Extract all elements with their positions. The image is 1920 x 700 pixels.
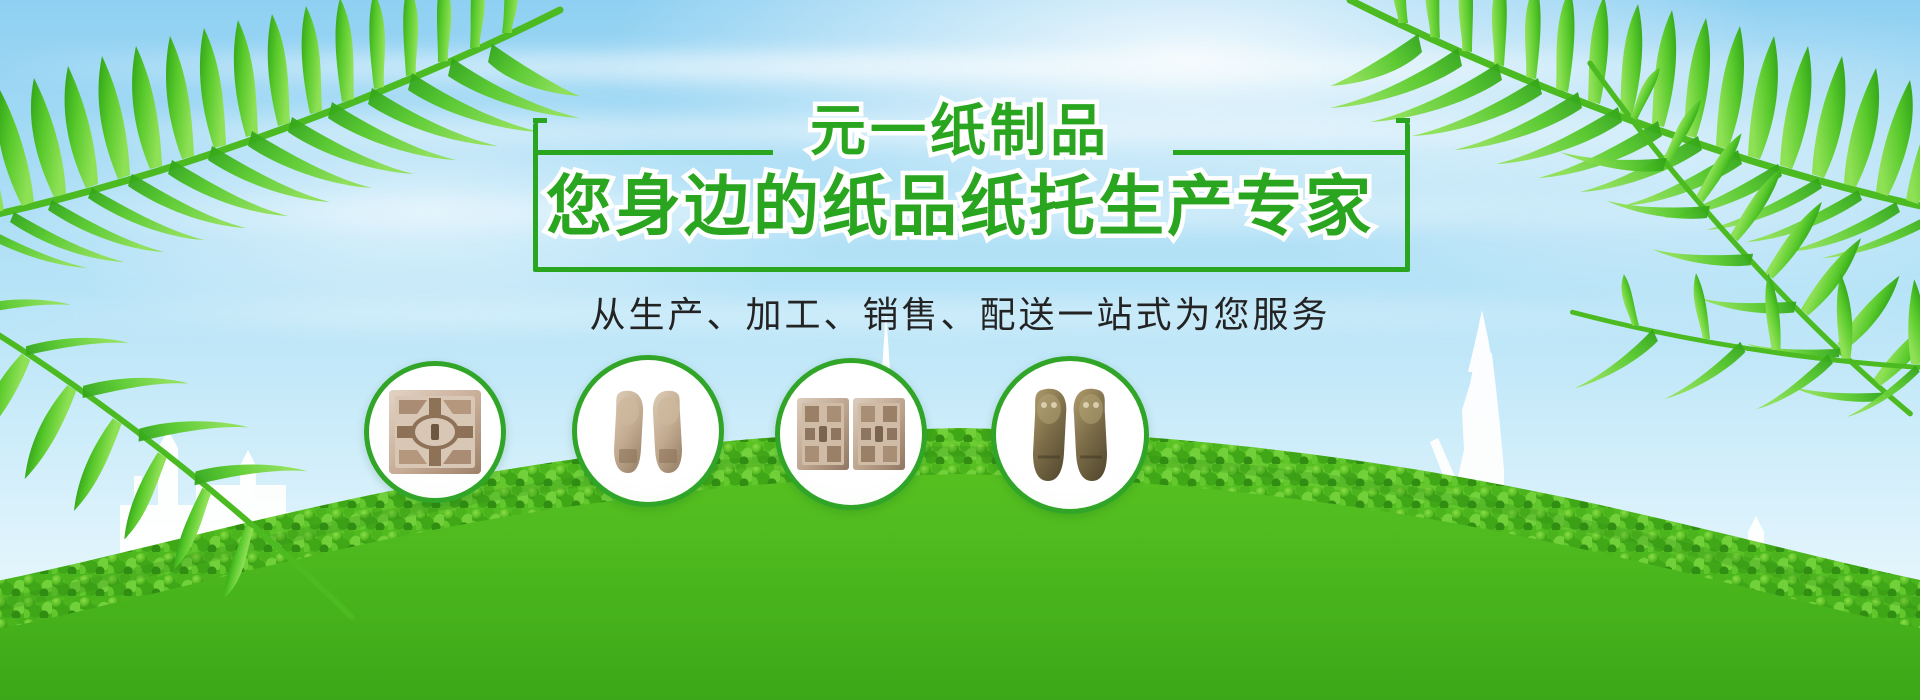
product-circle-molded-pulp-shoe-shapers-dark[interactable] — [991, 356, 1149, 514]
molded-pulp-shoe-shapers-icon — [1014, 379, 1126, 491]
product-circle-molded-pulp-double-tray[interactable] — [775, 358, 927, 510]
molded-pulp-double-tray-icon — [795, 388, 907, 480]
molded-pulp-square-tray-icon — [383, 380, 487, 484]
product-circle-molded-pulp-shoe-inserts-pair[interactable] — [572, 355, 724, 507]
molded-pulp-shoe-inserts-icon — [594, 377, 702, 485]
product-circle-molded-pulp-square-tray[interactable] — [364, 361, 506, 503]
product-showcase — [0, 0, 1920, 700]
promotional-banner: 元一纸制品 您身边的纸品纸托生产专家 从生产、加工、销售、配送一站式为您服务 — [0, 0, 1920, 700]
